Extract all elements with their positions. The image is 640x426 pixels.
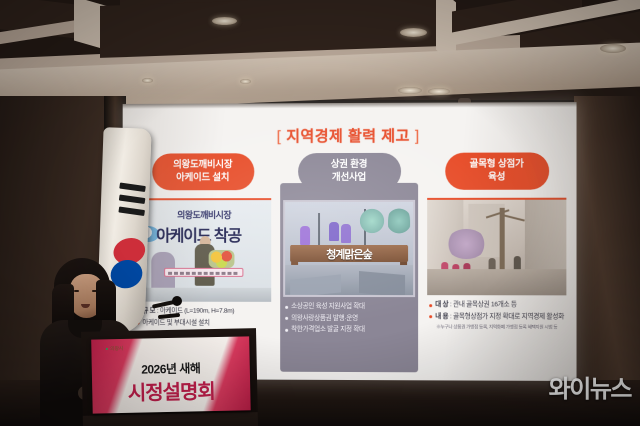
- bullet-label: 내 용: [435, 313, 448, 320]
- bullet-item: 내 용 : 골목형상점가 지정 확대로 지역경제 활성화: [429, 313, 564, 322]
- downlight-3: [600, 44, 626, 53]
- street-tree-trunk: [499, 207, 504, 276]
- bullet-text: 아케이드 및 부대시설 설치: [142, 319, 209, 327]
- photo-caption-bar: [164, 268, 243, 277]
- slide-column-alley-shopping: 골목형 상점가 육성: [427, 152, 566, 372]
- bullet-text: 소상공인 육성 지원사업 확대: [291, 303, 365, 311]
- pill-line-2: 아케이드 설치: [176, 172, 229, 185]
- archway-sign-text: 청계맑은숲: [285, 246, 413, 262]
- bullet-text: 의왕사랑상품권 발행·운영: [291, 315, 358, 323]
- speaker-eye-left: [74, 290, 79, 292]
- banner-top-text: 의왕도깨비시장: [177, 210, 231, 220]
- bullet-item: 착한가격업소 발굴 지정 확대: [285, 326, 413, 335]
- column-panel: 청계맑은숲 소상공인 육성 지원사업 확대 의왕사랑상품권 발행·운영: [280, 198, 418, 372]
- cheonggye-forest-archway-photo: 청계맑은숲: [283, 200, 415, 297]
- flag-trigram-bar: [119, 194, 146, 204]
- news-watermark: 와이뉴스: [549, 369, 631, 404]
- pill-line-2: 육성: [488, 171, 505, 184]
- bracket-left-icon: [: [272, 128, 287, 145]
- arcade-groundbreaking-photo: 의왕도깨비시장 아케이드 착공: [135, 198, 272, 302]
- bullet-item: 대 상 : 관내 골목상권 16개소 등: [429, 301, 564, 310]
- flag-trigram-bar: [118, 206, 145, 216]
- bullet-item: 규 모 : 아케이드 (L=190m, H=7.8m): [136, 308, 269, 316]
- photo-banner-top-text: 의왕도깨비시장: [140, 208, 269, 221]
- pill-line-1: 의왕도깨비시장: [173, 159, 232, 172]
- pill-line-1: 상권 환경: [331, 159, 368, 172]
- column-footnote: ※누구나 상품권 가맹점 등록, 지역화폐 가맹점 등록 혜택지원 시범 등: [429, 325, 564, 331]
- bullet-dot-icon: [285, 305, 288, 308]
- archway-figure-right: [341, 224, 351, 243]
- downlight-1: [212, 17, 237, 25]
- bullet-dot-icon: [429, 315, 432, 318]
- bullet-text: 관내 골목상권 16개소 등: [453, 301, 517, 308]
- pill-line-2: 개선사업: [332, 171, 366, 184]
- street-rooftops: [285, 265, 413, 295]
- conference-hall-photo: [지역경제 활력 제고] 의왕도깨비시장 아케이드 설치 의왕도깨비시: [0, 0, 640, 426]
- bullet-item: 소상공인 육성 지원사업 확대: [285, 303, 413, 311]
- archway-figure-left: [300, 226, 310, 245]
- banner-line-2: 시정설명회: [92, 374, 251, 406]
- bullet-text: 골목형상점가 지정 확대로 지역경제 활성화: [453, 313, 564, 320]
- column-heading-pill: 의왕도깨비시장 아케이드 설치: [152, 153, 254, 190]
- bullet-item: 아케이드 및 부대시설 설치: [136, 319, 269, 328]
- downlight-4: [240, 79, 251, 84]
- column-heading-pill: 상권 환경 개선사업: [298, 153, 401, 190]
- pill-line-1: 골목형 상점가: [470, 159, 524, 172]
- column-bullets: 대 상 : 관내 골목상권 16개소 등 내 용 : 골목형상점가 지정 확대로…: [427, 301, 566, 331]
- downlight-6: [428, 88, 450, 95]
- bullet-dot-icon: [429, 304, 432, 307]
- column-bullets: 소상공인 육성 지원사업 확대 의왕사랑상품권 발행·운영 착한가격업소 발굴 …: [283, 303, 415, 339]
- building-right: [525, 200, 567, 278]
- downlight-2: [400, 28, 427, 37]
- podium-body: [83, 412, 259, 426]
- bullet-dot-icon: [285, 329, 288, 332]
- alley-street-photo: [427, 198, 566, 296]
- downlight-5: [398, 87, 422, 94]
- bullet-label: 대 상: [435, 301, 448, 308]
- flag-trigram-bar: [119, 182, 146, 192]
- column-panel: 대 상 : 관내 골목상권 16개소 등 내 용 : 골목형상점가 지정 확대로…: [427, 198, 566, 373]
- downlight-7: [142, 78, 153, 83]
- photo-foreground-rail: [135, 288, 272, 302]
- city-logo-icon: 의왕시: [105, 345, 123, 352]
- street-surface: [427, 269, 566, 295]
- bullet-item: 의왕사랑상품권 발행·운영: [285, 315, 413, 324]
- bullet-text: 착한가격업소 발굴 지정 확대: [291, 326, 365, 334]
- column-heading-pill: 골목형 상점가 육성: [445, 152, 549, 189]
- slide-title-text: 지역경제 활력 제고: [286, 128, 410, 145]
- archway-figure-mid: [329, 222, 339, 241]
- tree-foliage: [359, 206, 385, 236]
- photo-flower-bouquet: [208, 250, 234, 268]
- slide-title: [지역경제 활력 제고]: [123, 124, 577, 146]
- slide-column-commercial-environment: 상권 환경 개선사업: [280, 153, 418, 372]
- bullet-dot-icon: [285, 317, 288, 320]
- microphone-head-icon: [172, 296, 182, 306]
- tree-foliage: [388, 204, 410, 238]
- cherry-blossom-canopy: [447, 228, 487, 258]
- podium: 의왕시 2026년 새해 시정설명회: [81, 328, 258, 426]
- podium-banner: 의왕시 2026년 새해 시정설명회: [91, 336, 251, 413]
- bracket-right-icon: ]: [410, 128, 425, 145]
